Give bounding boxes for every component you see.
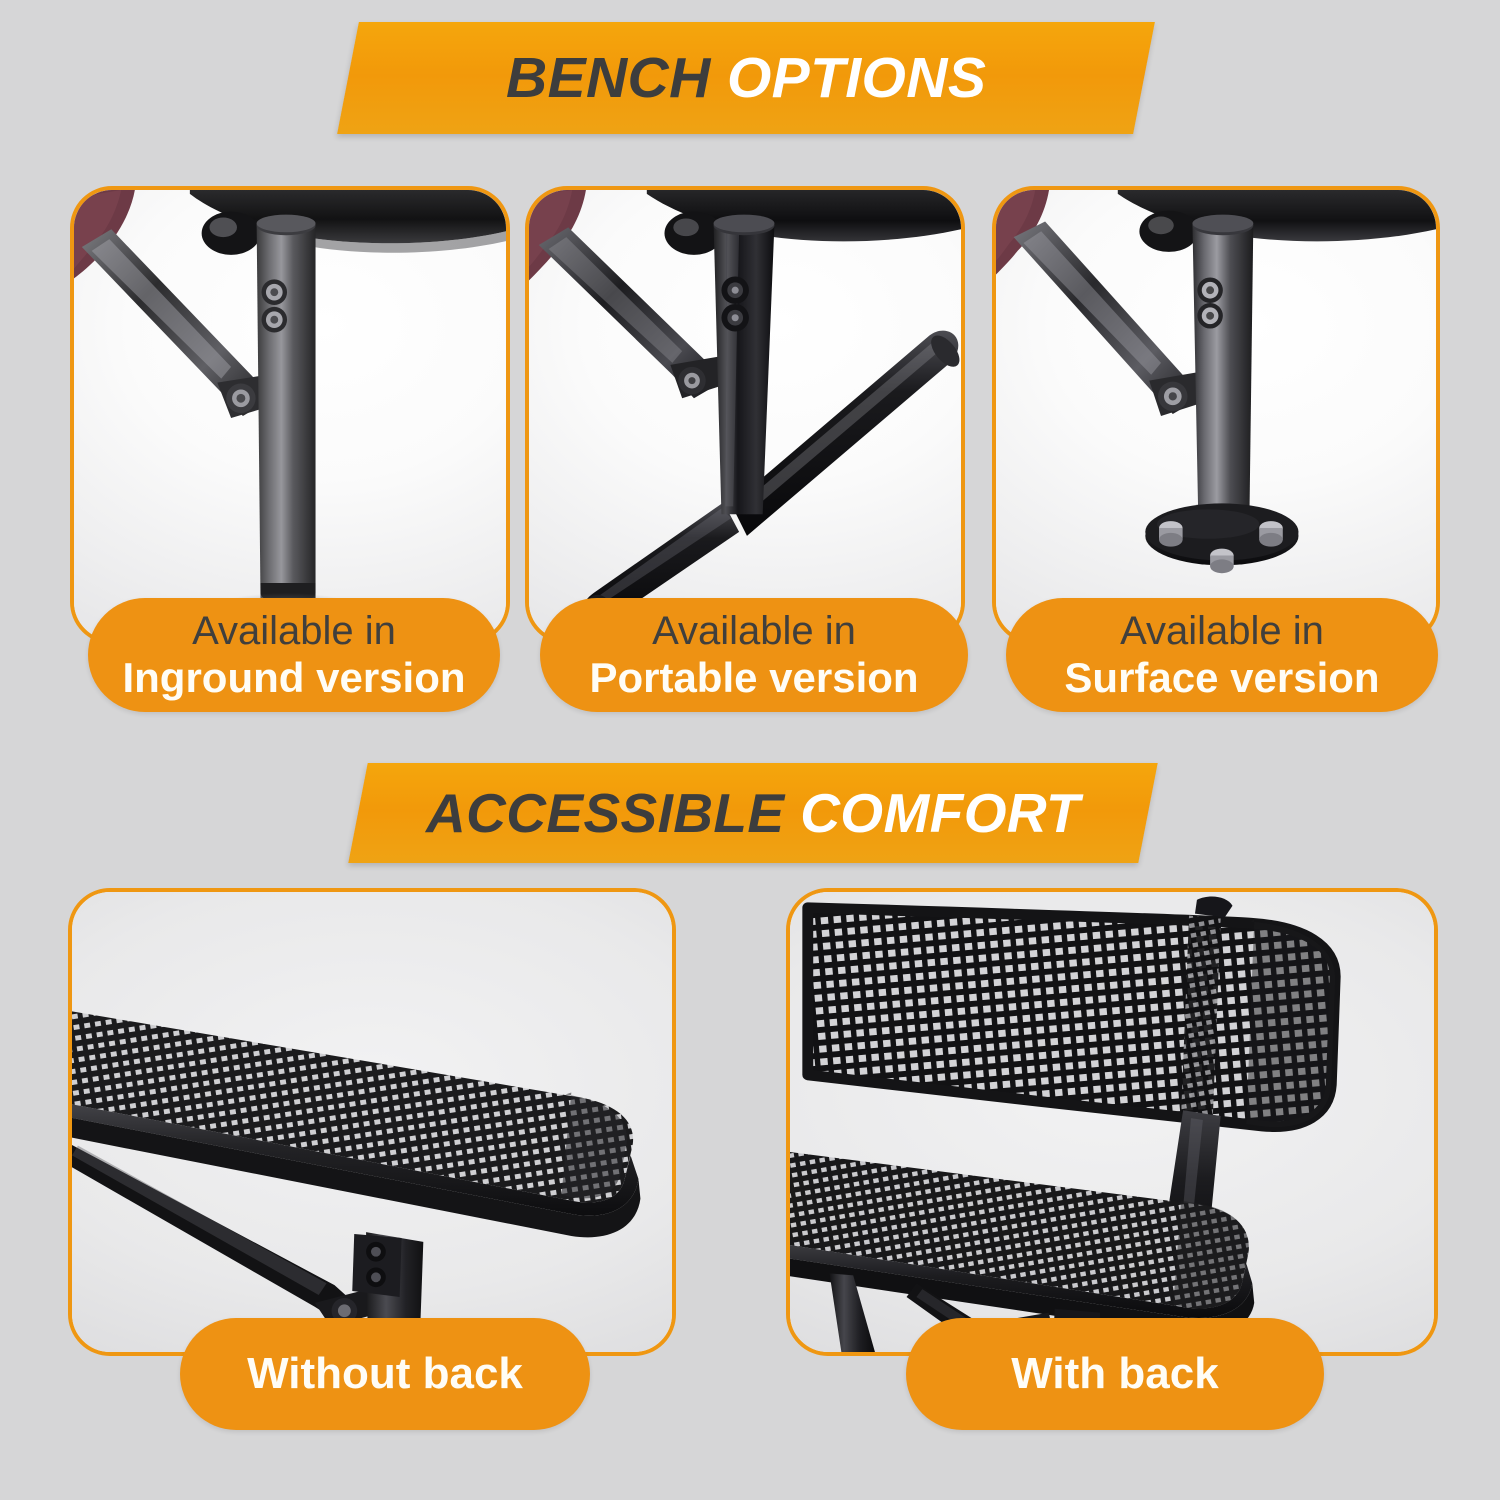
banner-text: ACCESSIBLE COMFORT — [426, 781, 1080, 845]
option-label-portable: Available in Portable version — [540, 598, 968, 712]
comfort-label-with-back: With back — [906, 1318, 1324, 1430]
photo-bench-with-back — [790, 892, 1434, 1352]
section-banner-bench-options: BENCH OPTIONS — [337, 22, 1155, 134]
banner-word-light: OPTIONS — [727, 46, 986, 110]
banner-word-dark: BENCH — [506, 46, 711, 110]
section-banner-accessible-comfort: ACCESSIBLE COMFORT — [348, 763, 1157, 863]
option-label-line2: Surface version — [1064, 654, 1379, 701]
comfort-label-text: Without back — [247, 1349, 523, 1398]
option-label-line1: Available in — [192, 609, 396, 654]
option-label-line1: Available in — [652, 609, 856, 654]
option-card-surface[interactable] — [992, 186, 1440, 644]
banner-word-dark: ACCESSIBLE — [426, 782, 785, 844]
comfort-label-text: With back — [1011, 1349, 1218, 1398]
product-infographic: BENCH OPTIONS — [0, 0, 1500, 1500]
option-label-line2: Portable version — [589, 654, 918, 701]
comfort-card-with-back[interactable] — [786, 888, 1438, 1356]
comfort-card-without-back[interactable] — [68, 888, 676, 1356]
banner-word-light: COMFORT — [800, 782, 1080, 844]
photo-inground-leg — [74, 190, 506, 640]
comfort-label-without-back: Without back — [180, 1318, 590, 1430]
photo-bench-without-back — [72, 892, 672, 1352]
banner-text: BENCH OPTIONS — [506, 45, 986, 111]
photo-portable-leg — [529, 190, 961, 640]
option-label-line2: Inground version — [122, 654, 465, 701]
option-label-inground: Available in Inground version — [88, 598, 500, 712]
option-label-surface: Available in Surface version — [1006, 598, 1438, 712]
option-card-inground[interactable] — [70, 186, 510, 644]
photo-surface-mount-leg — [996, 190, 1436, 640]
option-label-line1: Available in — [1120, 609, 1324, 654]
option-card-portable[interactable] — [525, 186, 965, 644]
